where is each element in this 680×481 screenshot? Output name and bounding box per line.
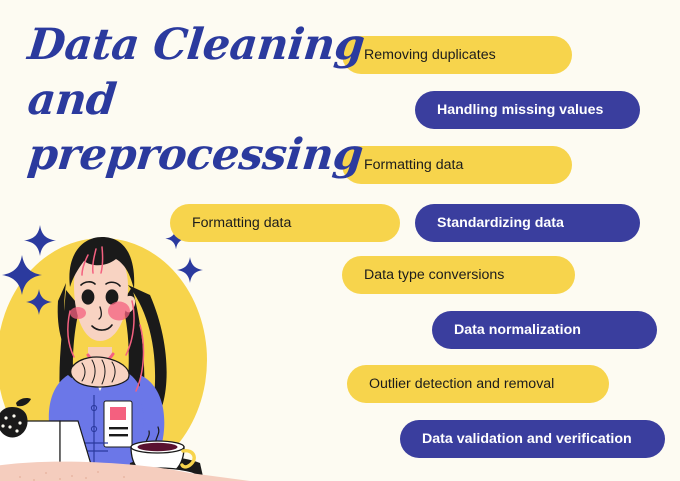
page-title: Data Cleaning and preprocessing <box>28 18 338 183</box>
pill-label: Standardizing data <box>437 215 564 231</box>
pill-label: Data validation and verification <box>422 431 632 447</box>
illustration-woman-at-laptop <box>0 215 250 481</box>
pill-label: Removing duplicates <box>364 47 496 63</box>
title-line-2: and <box>25 73 341 128</box>
pill-item[interactable]: Outlier detection and removal <box>347 365 609 403</box>
pill-label: Formatting data <box>192 215 291 231</box>
title-line-1: Data Cleaning <box>25 18 341 73</box>
pill-item[interactable]: Data type conversions <box>342 256 575 294</box>
poster-canvas: Data Cleaning and preprocessing Removing… <box>0 0 680 481</box>
pill-label: Handling missing values <box>437 102 603 118</box>
pill-item[interactable]: Formatting data <box>342 146 572 184</box>
pill-item[interactable]: Removing duplicates <box>342 36 572 74</box>
pill-item[interactable]: Handling missing values <box>415 91 640 129</box>
pill-label: Data normalization <box>454 322 581 338</box>
pill-item[interactable]: Formatting data <box>170 204 400 242</box>
pill-label: Outlier detection and removal <box>369 376 554 392</box>
pill-label: Formatting data <box>364 157 463 173</box>
pill-item[interactable]: Data normalization <box>432 311 657 349</box>
pill-label: Data type conversions <box>364 267 504 283</box>
pill-item[interactable]: Data validation and verification <box>400 420 665 458</box>
title-line-3: preprocessing <box>25 128 341 183</box>
pill-item[interactable]: Standardizing data <box>415 204 640 242</box>
